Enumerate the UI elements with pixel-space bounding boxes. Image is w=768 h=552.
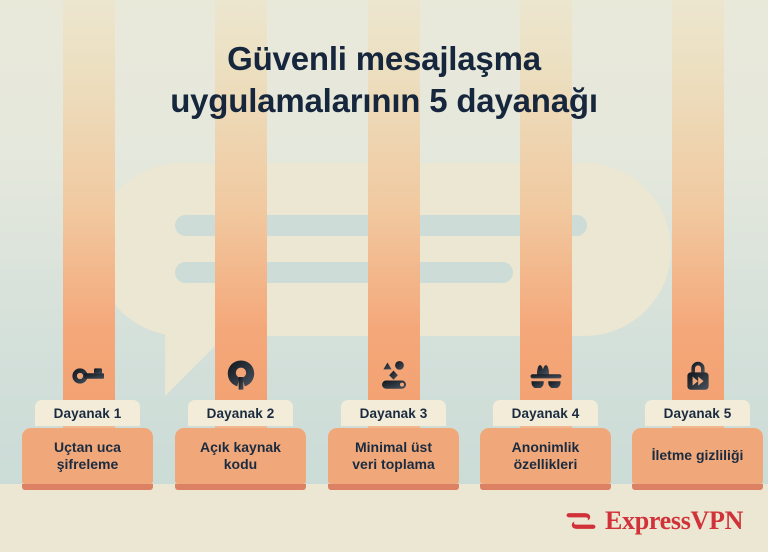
pillar-body-4: Anonimlik özellikleri: [480, 428, 611, 484]
pillar-body-3: Minimal üst veri toplama: [328, 428, 459, 484]
pillar-tab-3: Dayanak 3: [341, 400, 446, 426]
pillar-strip-2: [175, 484, 306, 490]
pillar-tab-2: Dayanak 2: [188, 400, 293, 426]
pillar-tab-label-5: Dayanak 5: [664, 406, 732, 421]
pillar-tab-label-2: Dayanak 2: [207, 406, 275, 421]
pillar-strip-1: [22, 484, 153, 490]
pillar-tab-label-4: Dayanak 4: [512, 406, 580, 421]
pillar-body-2: Açık kaynak kodu: [175, 428, 306, 484]
open-source-icon: [215, 352, 267, 398]
pillar-label-5: İletme gizliliği: [652, 447, 744, 464]
pillar-tab-label-1: Dayanak 1: [54, 406, 122, 421]
pillar-label-2: Açık kaynak kodu: [200, 439, 281, 473]
pillar-strip-4: [480, 484, 611, 490]
pillar-label-4: Anonimlik özellikleri: [512, 439, 580, 473]
pillar-tab-label-3: Dayanak 3: [360, 406, 428, 421]
pillar-tab-5: Dayanak 5: [645, 400, 750, 426]
pillar-strip-3: [328, 484, 459, 490]
key-icon: [63, 352, 115, 398]
page-title: Güvenli mesajlaşma uygulamalarının 5 day…: [0, 38, 768, 122]
pillar-tab-1: Dayanak 1: [35, 400, 140, 426]
expressvpn-e-mark-icon: [566, 506, 596, 536]
infographic-canvas: Dayanak 1 Uçtan uca şifreleme Dayanak 2 …: [0, 0, 768, 552]
pillar-body-5: İletme gizliliği: [632, 428, 763, 484]
expressvpn-logo-text: ExpressVPN: [605, 508, 743, 534]
pillar-label-1: Uçtan uca şifreleme: [54, 439, 121, 473]
padlock-forward-icon: [672, 352, 724, 398]
data-mining-icon: [368, 352, 420, 398]
pillar-body-1: Uçtan uca şifreleme: [22, 428, 153, 484]
expressvpn-logo: ExpressVPN: [566, 506, 743, 536]
pillar-tab-4: Dayanak 4: [493, 400, 598, 426]
incognito-hat-icon: [520, 352, 572, 398]
pillar-strip-5: [632, 484, 763, 490]
pillar-label-3: Minimal üst veri toplama: [352, 439, 434, 473]
